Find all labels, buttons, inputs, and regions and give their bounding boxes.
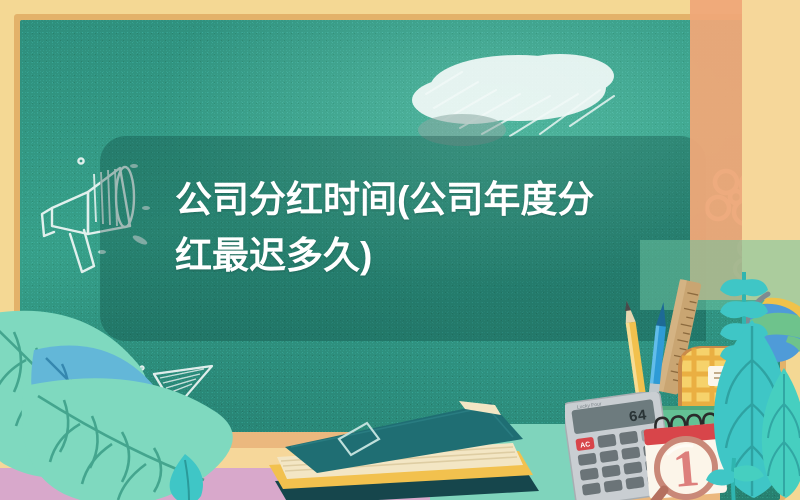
leaf-teal-small bbox=[155, 450, 215, 500]
plant-sprout-icon bbox=[700, 452, 770, 500]
stacked-books-icon bbox=[255, 395, 545, 500]
leaf-mint-wide bbox=[20, 372, 250, 500]
calculator-ac-key-label: AC bbox=[580, 441, 591, 449]
banner-canvas: 公司分红时间(公司年度分 红最迟多久) bbox=[0, 0, 800, 500]
page-title: 公司分红时间(公司年度分 红最迟多久) bbox=[175, 172, 655, 284]
